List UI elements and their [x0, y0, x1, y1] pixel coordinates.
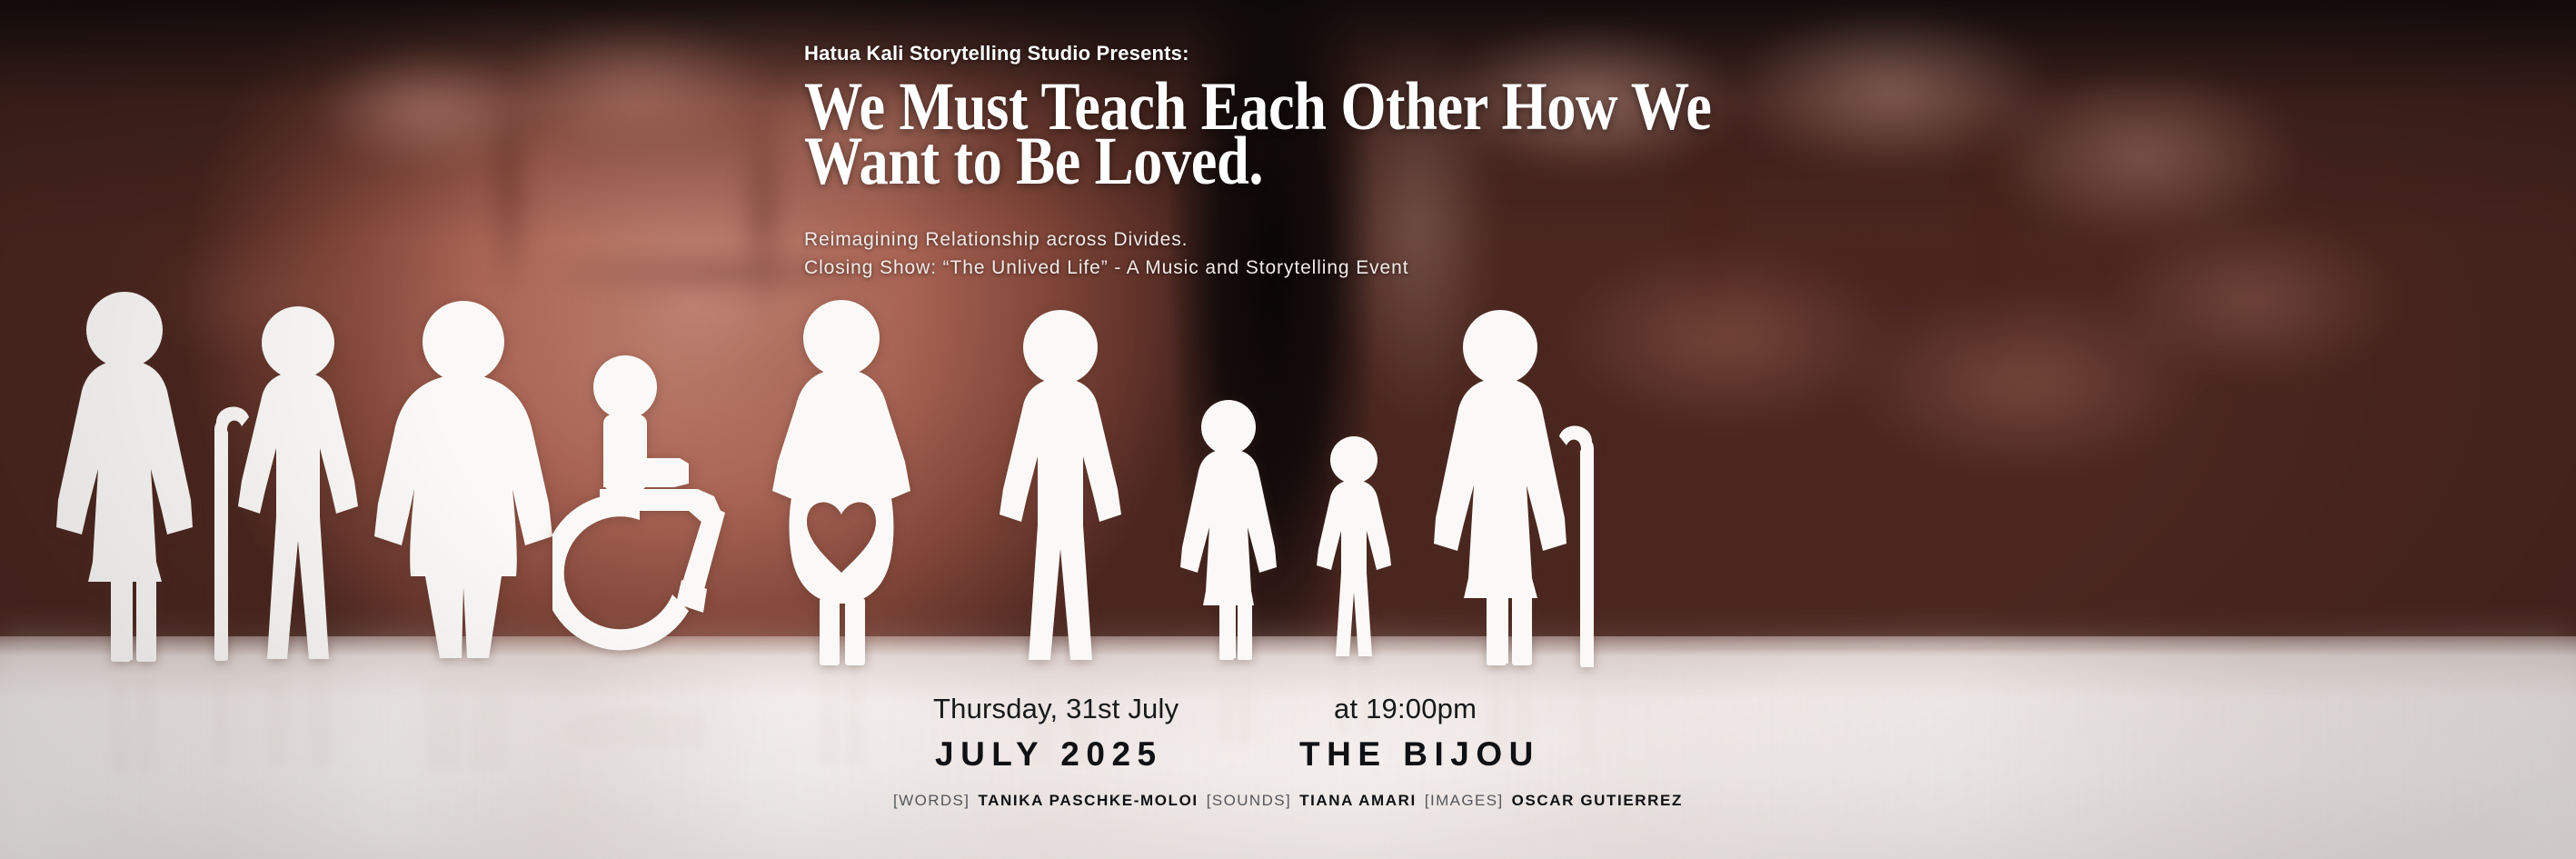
reflection-large-person [362, 666, 566, 771]
credit-words-label: [WORDS] [893, 792, 970, 809]
event-month-year: JULY 2025 [935, 735, 1163, 774]
figure-wheelchair-user [552, 351, 734, 660]
subtitle-line-1: Reimagining Relationship across Divides. [804, 225, 1408, 254]
figure-woman-standing [45, 289, 204, 666]
event-poster: Hatua Kali Storytelling Studio Presents:… [0, 0, 2576, 859]
credit-images-name: OSCAR GUTIERREZ [1512, 792, 1683, 809]
figure-boy-child [1307, 434, 1402, 662]
credit-sounds-name: TIANA AMARI [1299, 792, 1417, 809]
reflection-woman-standing [45, 666, 204, 775]
reflection-pregnant-person [751, 664, 932, 764]
subtitle-line-2: Closing Show: “The Unlived Life” - A Mus… [804, 254, 1408, 282]
event-time: at 19:00pm [1334, 693, 1477, 725]
event-venue: THE BIJOU [1299, 735, 1540, 774]
credit-images-label: [IMAGES] [1425, 792, 1504, 809]
figure-large-person [362, 298, 566, 667]
figure-person-with-cane-left [207, 303, 384, 668]
reflection-girl-child [1172, 661, 1286, 743]
reflection-wheelchair-user [552, 662, 734, 748]
event-date: Thursday, 31st July [933, 693, 1179, 725]
presenter-line: Hatua Kali Storytelling Studio Presents: [804, 42, 1189, 65]
figure-elderly-woman-cane [1423, 307, 1605, 671]
figure-girl-child [1172, 398, 1286, 664]
reflection-person-with-cane-left [207, 666, 384, 766]
credit-words-name: TANIKA PASCHKE-MOLOI [978, 792, 1198, 809]
credits-line: [WORDS]TANIKA PASCHKE-MOLOI[SOUNDS]TIANA… [0, 792, 2576, 810]
figure-man-standing [974, 307, 1147, 667]
credit-sounds-label: [SOUNDS] [1207, 792, 1291, 809]
poster-title: We Must Teach Each Other How We Want to … [804, 80, 1805, 189]
figure-pregnant-person-heart [751, 298, 932, 669]
poster-subtitle: Reimagining Relationship across Divides.… [804, 225, 1408, 282]
